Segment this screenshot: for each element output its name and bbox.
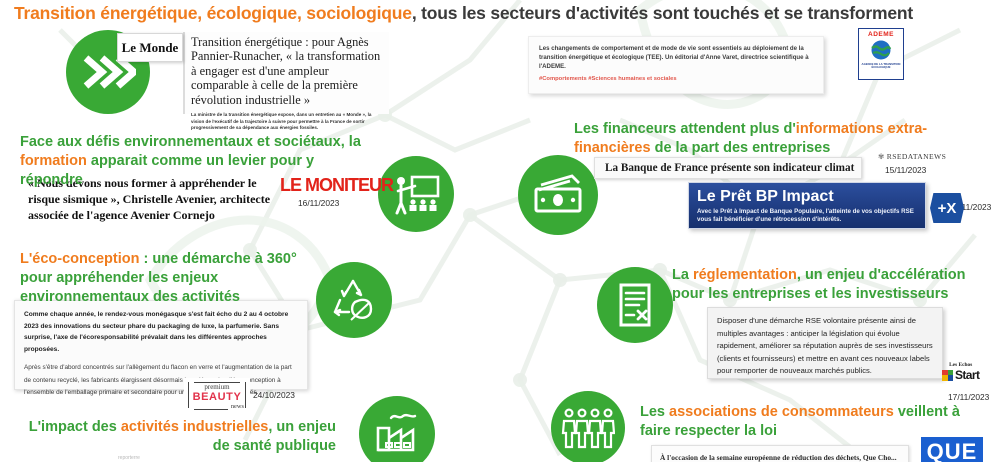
que-choisir-clipping: À l'occasion de la semaine européenne de… [651, 445, 909, 462]
moniteur-date-text: 16/11/2023 [298, 198, 339, 208]
banque-de-france-clipping: La Banque de France présente son indicat… [594, 157, 862, 179]
consommateurs-head-accent: associations de consommateurs [669, 404, 894, 420]
le-monde-clipping: Transition énergétique : pour Agnès Pann… [183, 32, 389, 114]
people-group-icon-circle [551, 391, 625, 462]
recycling-leaf-icon-circle [316, 262, 392, 338]
factory-icon-circle [359, 396, 435, 462]
les-echos-logo-squares [942, 370, 953, 381]
banknotes-icon [532, 174, 584, 216]
formation-head-part1: Face aux défis environnementaux et socié… [20, 134, 361, 150]
section-heading-industrie: L'impact des activités industrielles, un… [20, 418, 336, 456]
moniteur-date: 16/11/2023 [298, 198, 339, 208]
que-choisir-logo-text: QUE [927, 439, 978, 462]
premium-beauty-logo-3: news [231, 403, 244, 410]
ademe-logo-word: ADEME [868, 31, 894, 38]
les-echos-start-clipping: Disposer d'une démarche RSE volontaire p… [707, 307, 943, 379]
que-choisir-logo: QUE [921, 437, 983, 462]
financeurs-head-part2: de la part des entreprises [651, 140, 831, 156]
les-echos-start-text: Disposer d'une démarche RSE volontaire p… [717, 316, 933, 375]
globe-icon [868, 39, 894, 61]
premium-beauty-clipping: Comme chaque année, le rendez-vous monég… [14, 300, 308, 390]
infographic-canvas: Transition énergétique, écologique, soci… [0, 0, 1000, 462]
section-heading-reglementation: La réglementation, un enjeu d'accélérati… [672, 266, 992, 304]
section-heading-consommateurs: Les associations de consommateurs veille… [640, 403, 970, 441]
reglementation-head-part1: La [672, 267, 693, 283]
banque-de-france-text: La Banque de France présente son indicat… [605, 162, 854, 174]
ademe-logo: ADEME AGENCE DE LA TRANSITION ÉCOLOGIQUE [858, 28, 904, 80]
teacher-board-icon [391, 173, 441, 215]
reglementation-head-accent: réglementation [693, 267, 797, 283]
premium-beauty-paragraph-1: Comme chaque année, le rendez-vous monég… [24, 309, 298, 355]
ademe-logo-sub: AGENCE DE LA TRANSITION ÉCOLOGIQUE [859, 63, 903, 70]
rsedatanews-logo: ✾RSEDATANEWS [878, 152, 946, 161]
factory-icon [373, 412, 421, 456]
plusx-logo: +X [930, 193, 964, 223]
bp-impact-subtitle: Avec le Prêt à Impact de Banque Populair… [697, 208, 917, 225]
le-monde-title: Transition énergétique : pour Agnès Pann… [191, 35, 383, 107]
que-choisir-text: À l'occasion de la semaine européenne de… [660, 453, 897, 462]
headline-rest: , tous les secteurs d'activités sont tou… [412, 3, 913, 23]
rsedatanews-text: RSEDATANEWS [887, 152, 946, 161]
le-monde-logo: Le Monde [117, 33, 183, 62]
le-moniteur-logo: LE MONITEUR [280, 175, 393, 196]
le-monde-logo-text: Le Monde [122, 40, 179, 56]
recycling-leaf-icon [329, 276, 379, 324]
document-contract-icon-circle [597, 267, 673, 343]
consommateurs-head-part1: Les [640, 404, 669, 420]
le-monde-body: La ministre de la transition énergétique… [191, 112, 383, 132]
bp-impact-title: Le Prêt BP Impact [697, 188, 917, 205]
les-echos-start-date: 17/11/2023 [948, 392, 989, 402]
premium-beauty-date: 24/10/2023 [253, 390, 295, 400]
bp-impact-clipping: Le Prêt BP Impact Avec le Prêt à Impact … [688, 182, 926, 229]
banque-de-france-date: 15/11/2023 [885, 165, 926, 175]
ademe-tags: #Comportements #Sciences humaines et soc… [539, 76, 813, 82]
premium-beauty-logo-1: premium [204, 383, 229, 391]
eco-head-accent: L'éco-conception [20, 251, 139, 267]
headline-highlight: Transition énergétique, écologique, soci… [14, 3, 412, 23]
premium-beauty-date-text: 24/10/2023 [253, 390, 295, 400]
financeurs-head-part1: Les financeurs attendent plus d' [574, 121, 796, 137]
premium-beauty-logo-2: BEAUTY [193, 391, 242, 403]
les-echos-start-logo: Les Echos Start [942, 362, 979, 382]
document-contract-icon [615, 281, 655, 329]
banque-de-france-date-text: 15/11/2023 [885, 165, 926, 175]
les-echos-logo-word: Start [955, 368, 979, 382]
ademe-clipping: Les changements de comportement et de mo… [528, 36, 824, 94]
les-echos-start-date-text: 17/11/2023 [948, 392, 989, 402]
plusx-logo-text: +X [938, 200, 957, 217]
banknotes-icon-circle [518, 155, 598, 235]
premium-beauty-logo: premium BEAUTY news [184, 378, 250, 414]
industrie-head-accent: activités industrielles [121, 419, 268, 435]
le-moniteur-logo-text: LE MONITEUR [280, 175, 393, 195]
section-heading-ecoconception: L'éco-conception : une démarche à 360° p… [20, 250, 310, 307]
industrie-head-part1: L'impact des [29, 419, 121, 435]
page-headline: Transition énergétique, écologique, soci… [14, 3, 984, 24]
ademe-text: Les changements de comportement et de mo… [539, 44, 813, 72]
people-group-icon [561, 407, 615, 449]
formation-head-accent: formation [20, 153, 87, 169]
